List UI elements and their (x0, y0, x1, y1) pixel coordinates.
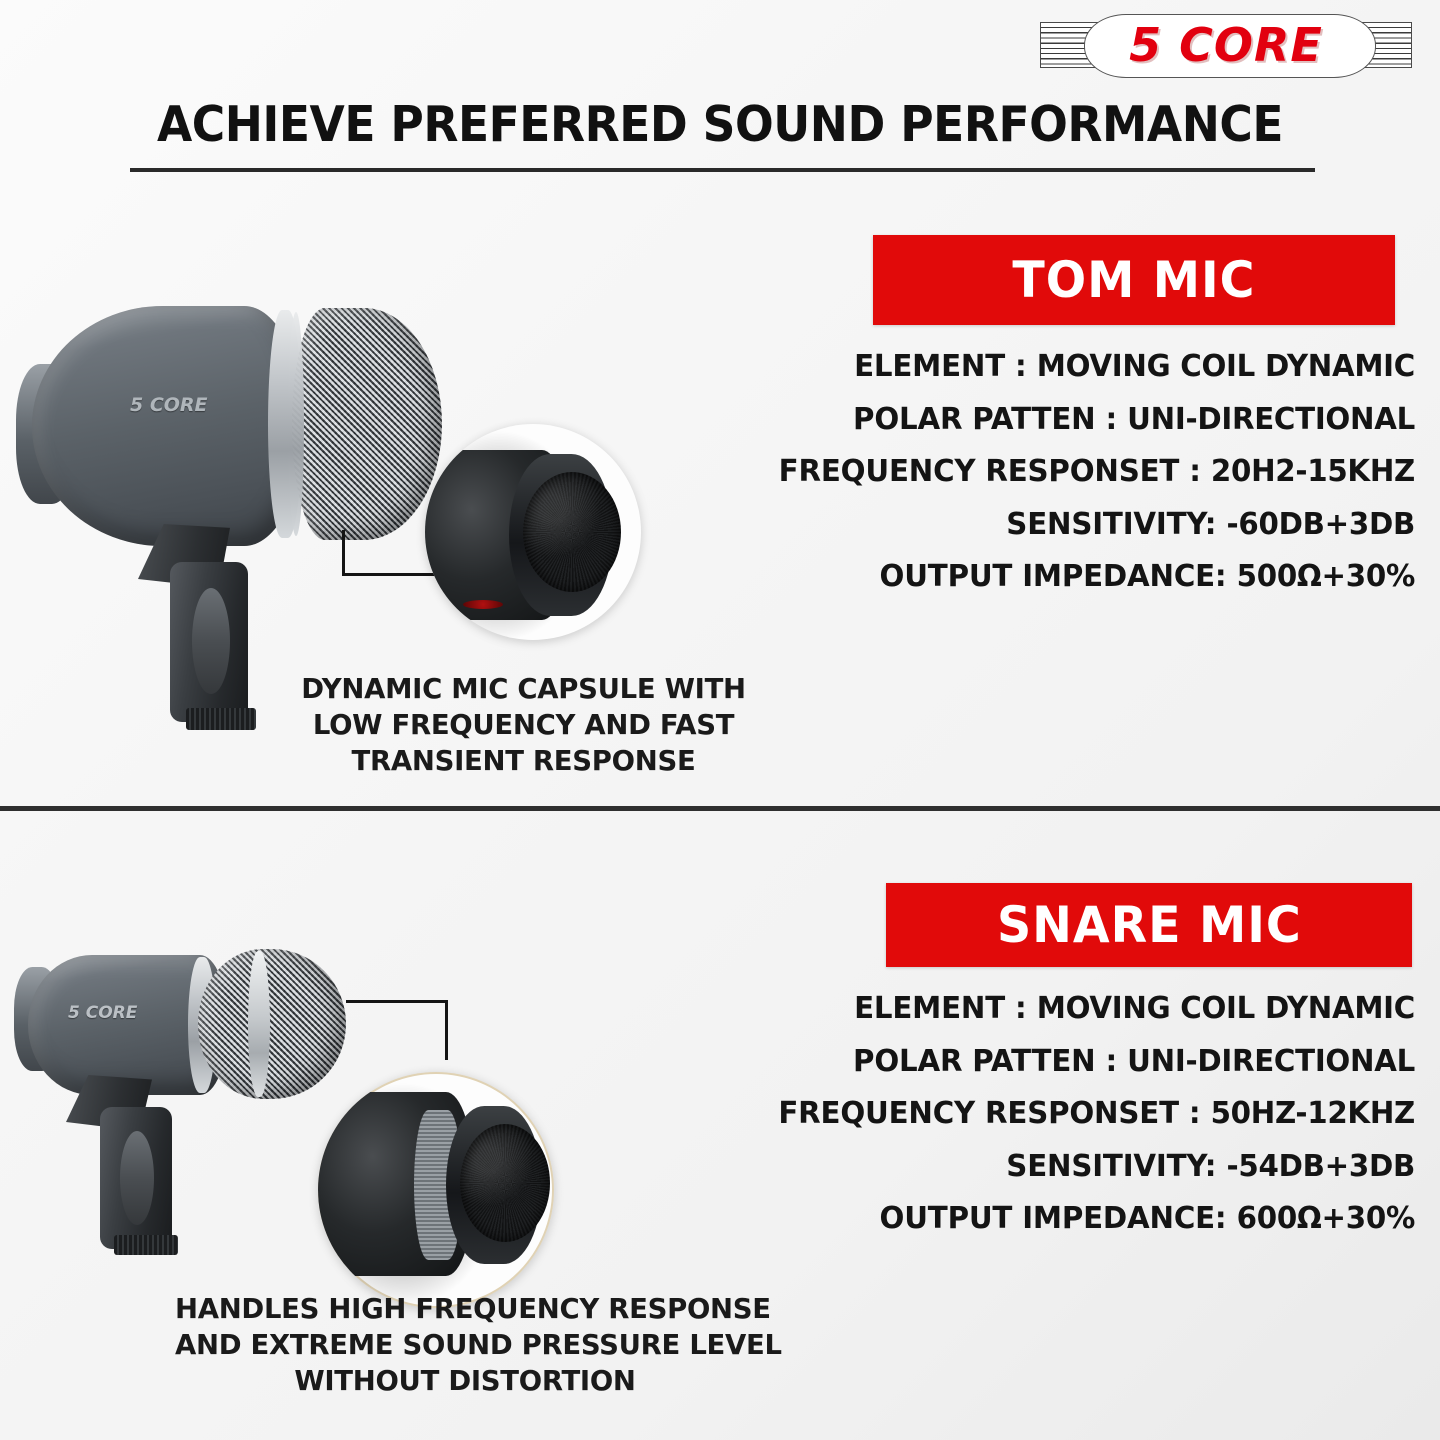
tom-mic-banner-label: TOM MIC (1012, 251, 1255, 309)
spec-label: SENSITIVITY: (1006, 1149, 1216, 1184)
snare-capsule-closeup (318, 1072, 554, 1308)
spec-value: -54DB+3DB (1227, 1149, 1415, 1184)
caption-line: DYNAMIC MIC CAPSULE WITH (280, 672, 767, 708)
spec-row: OUTPUT IMPEDANCE: 500Ω+30% (729, 562, 1415, 593)
spec-label: POLAR PATTEN : (853, 1044, 1117, 1079)
spec-row: FREQUENCY RESPONSET : 50HZ-12KHZ (729, 1099, 1415, 1130)
spec-row: POLAR PATTEN : UNI-DIRECTIONAL (729, 1047, 1415, 1078)
spec-row: FREQUENCY RESPONSET : 20H2-15KHZ (729, 457, 1415, 488)
capsule-diaphragm-foam (460, 1124, 550, 1242)
spec-label: ELEMENT : (854, 349, 1026, 384)
mic-grille-band (288, 312, 304, 536)
mic-grille (198, 949, 346, 1099)
mic-clip-slot (120, 1131, 154, 1225)
infographic-page: 5 CORE ACHIEVE PREFERRED SOUND PERFORMAN… (0, 0, 1440, 1440)
caption-line: TRANSIENT RESPONSE (280, 744, 767, 780)
mic-body (32, 306, 304, 546)
tom-leader-line-vertical (342, 530, 345, 576)
mic-clip-slot (192, 588, 230, 694)
tom-mic-banner: TOM MIC (873, 235, 1395, 325)
spec-label: FREQUENCY RESPONSET : (778, 1096, 1200, 1131)
spec-value: UNI-DIRECTIONAL (1127, 402, 1415, 437)
spec-value: MOVING COIL DYNAMIC (1037, 991, 1415, 1026)
spec-value: 50HZ-12KHZ (1211, 1096, 1415, 1131)
spec-value: UNI-DIRECTIONAL (1127, 1044, 1415, 1079)
spec-row: POLAR PATTEN : UNI-DIRECTIONAL (729, 405, 1415, 436)
title-underline (130, 168, 1315, 172)
spec-value: -60DB+3DB (1227, 507, 1415, 542)
spec-label: FREQUENCY RESPONSET : (779, 454, 1201, 489)
caption-line: HANDLES HIGH FREQUENCY RESPONSE (175, 1292, 755, 1328)
capsule-diaphragm-foam (523, 472, 621, 592)
page-title: ACHIEVE PREFERRED SOUND PERFORMANCE (50, 96, 1389, 153)
spec-label: ELEMENT : (854, 991, 1026, 1026)
caption-line: LOW FREQUENCY AND FAST (280, 708, 767, 744)
spec-value: 600Ω+30% (1237, 1201, 1415, 1236)
capsule-red-wire (463, 600, 503, 609)
spec-value: 500Ω+30% (1237, 559, 1415, 594)
spec-value: MOVING COIL DYNAMIC (1037, 349, 1415, 384)
spec-value: 20H2-15KHZ (1211, 454, 1415, 489)
spec-row: SENSITIVITY: -60DB+3DB (729, 510, 1415, 541)
snare-mic-banner: SNARE MIC (886, 883, 1412, 967)
mic-clip-base (186, 708, 256, 730)
spec-row: SENSITIVITY: -54DB+3DB (729, 1152, 1415, 1183)
snare-mic-spec-list: ELEMENT : MOVING COIL DYNAMIC POLAR PATT… (700, 994, 1415, 1257)
tom-mic-caption: DYNAMIC MIC CAPSULE WITH LOW FREQUENCY A… (280, 672, 767, 779)
spec-row: OUTPUT IMPEDANCE: 600Ω+30% (729, 1204, 1415, 1235)
tom-mic-spec-list: ELEMENT : MOVING COIL DYNAMIC POLAR PATT… (700, 352, 1415, 615)
snare-leader-line-vertical (445, 1000, 448, 1060)
mic-grille (292, 308, 442, 540)
mic-body-logo: 5 CORE (130, 394, 236, 420)
mic-body-logo: 5 CORE (68, 1003, 160, 1025)
spec-label: SENSITIVITY: (1006, 507, 1216, 542)
snare-mic-banner-label: SNARE MIC (997, 896, 1302, 954)
tom-mic-product-image: 5 CORE (10, 272, 440, 732)
tom-capsule-closeup (425, 424, 641, 640)
spec-row: ELEMENT : MOVING COIL DYNAMIC (729, 994, 1415, 1025)
caption-line: AND EXTREME SOUND PRESSURE LEVEL (175, 1328, 755, 1364)
five-core-logo: 5 CORE (1040, 10, 1412, 80)
spec-row: ELEMENT : MOVING COIL DYNAMIC (729, 352, 1415, 383)
snare-leader-line-horizontal (346, 1000, 448, 1003)
section-divider (0, 806, 1440, 811)
spec-label: POLAR PATTEN : (853, 402, 1117, 437)
caption-line: WITHOUT DISTORTION (175, 1364, 755, 1400)
mic-grille-ring (248, 951, 270, 1097)
spec-label: OUTPUT IMPEDANCE: (880, 1201, 1227, 1236)
mic-clip-base (114, 1235, 178, 1255)
spec-label: OUTPUT IMPEDANCE: (880, 559, 1227, 594)
logo-text: 5 CORE (1040, 10, 1412, 80)
snare-mic-product-image: 5 CORE (0, 935, 370, 1265)
snare-mic-caption: HANDLES HIGH FREQUENCY RESPONSE AND EXTR… (175, 1292, 755, 1399)
